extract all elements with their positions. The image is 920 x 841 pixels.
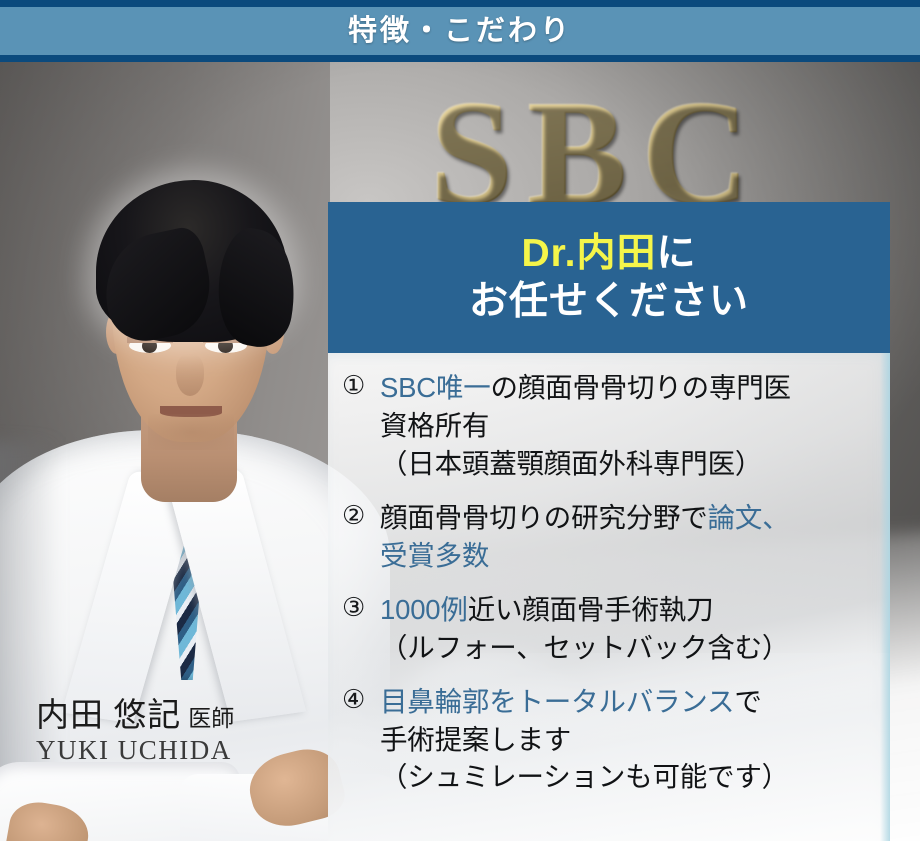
doctor-title-suffix: 医師 <box>188 706 234 731</box>
feature-item-text: 目鼻輪郭をトータルバランスで手術提案します（シュミレーションも可能です） <box>380 683 870 797</box>
card-heading-line2: お任せください <box>469 278 749 326</box>
feature-text-highlight: 目鼻輪郭をトータルバランス <box>380 686 734 717</box>
feature-item-line: （ルフォー、セットバック含む） <box>380 629 870 667</box>
doctor-name-jp-text: 内田 悠記 <box>36 698 181 734</box>
feature-item: ④目鼻輪郭をトータルバランスで手術提案します（シュミレーションも可能です） <box>342 683 870 797</box>
feature-text-plain: （シュミレーションも可能です） <box>380 761 789 792</box>
feature-card: Dr.内田に お任せください ①SBC唯一の顔面骨骨切りの専門医資格所有（日本頭… <box>328 202 890 841</box>
page-header: 特徴・こだわり <box>0 0 920 62</box>
page-title: 特徴・こだわり <box>348 17 572 46</box>
card-heading-line1: Dr.内田に <box>521 230 696 278</box>
feature-text-plain: 顔面骨骨切りの研究分野で <box>380 502 708 533</box>
feature-text-plain: で <box>734 686 761 717</box>
feature-item-line: SBC唯一の顔面骨骨切りの専門医 <box>380 369 870 407</box>
feature-item-line: 受賞多数 <box>380 537 870 575</box>
doctor-name-jp: 内田 悠記医師 <box>36 698 234 734</box>
feature-item: ②顔面骨骨切りの研究分野で論文、受賞多数 <box>342 499 870 575</box>
header-bar: 特徴・こだわり <box>0 7 920 55</box>
card-heading-highlight: Dr.内田 <box>521 232 656 275</box>
promo-banner: 特徴・こだわり SBC Shonan Beauty Clinic <box>0 0 920 841</box>
feature-item-line: 目鼻輪郭をトータルバランスで <box>380 683 870 721</box>
card-heading: Dr.内田に お任せください <box>328 202 890 353</box>
card-body: ①SBC唯一の顔面骨骨切りの専門医資格所有（日本頭蓋顎顔面外科専門医）②顔面骨骨… <box>328 353 890 841</box>
feature-text-highlight: SBC唯一 <box>380 372 491 403</box>
feature-item-text: SBC唯一の顔面骨骨切りの専門医資格所有（日本頭蓋顎顔面外科専門医） <box>380 369 870 483</box>
feature-item: ③1000例近い顔面骨手術執刀（ルフォー、セットバック含む） <box>342 591 870 667</box>
feature-item-text: 顔面骨骨切りの研究分野で論文、受賞多数 <box>380 499 870 575</box>
feature-text-plain: 手術提案します <box>380 724 571 755</box>
feature-text-plain: （日本頭蓋顎顔面外科専門医） <box>380 448 762 479</box>
doctor-name-block: 内田 悠記医師 YUKI UCHIDA <box>36 698 234 766</box>
feature-item-number: ② <box>342 499 380 535</box>
feature-item-line: 資格所有 <box>380 407 870 445</box>
feature-text-highlight: 論文、 <box>708 502 790 533</box>
feature-text-plain: 資格所有 <box>380 410 489 441</box>
chin-shading <box>148 414 234 450</box>
feature-text-plain: の顔面骨骨切りの専門医 <box>491 372 791 403</box>
nose <box>176 354 204 396</box>
doctor-name-en: YUKI UCHIDA <box>36 735 234 766</box>
photo-scene: SBC Shonan Beauty Clinic <box>0 62 920 841</box>
feature-text-plain: 近い顔面骨手術執刀 <box>468 594 714 625</box>
feature-item-number: ③ <box>342 591 380 627</box>
feature-text-highlight: 1000例 <box>380 594 468 625</box>
feature-item: ①SBC唯一の顔面骨骨切りの専門医資格所有（日本頭蓋顎顔面外科専門医） <box>342 369 870 483</box>
feature-item-line: 1000例近い顔面骨手術執刀 <box>380 591 870 629</box>
feature-item-text: 1000例近い顔面骨手術執刀（ルフォー、セットバック含む） <box>380 591 870 667</box>
feature-item-line: （シュミレーションも可能です） <box>380 758 870 796</box>
feature-item-line: （日本頭蓋顎顔面外科専門医） <box>380 445 870 483</box>
feature-text-highlight: 受賞多数 <box>380 540 489 571</box>
feature-item-number: ① <box>342 369 380 405</box>
feature-item-line: 顔面骨骨切りの研究分野で論文、 <box>380 499 870 537</box>
feature-text-plain: （ルフォー、セットバック含む） <box>380 632 789 663</box>
card-heading-line1-rest: に <box>657 232 697 275</box>
feature-item-line: 手術提案します <box>380 721 870 759</box>
feature-list: ①SBC唯一の顔面骨骨切りの専門医資格所有（日本頭蓋顎顔面外科専門医）②顔面骨骨… <box>342 369 870 796</box>
feature-item-number: ④ <box>342 683 380 719</box>
